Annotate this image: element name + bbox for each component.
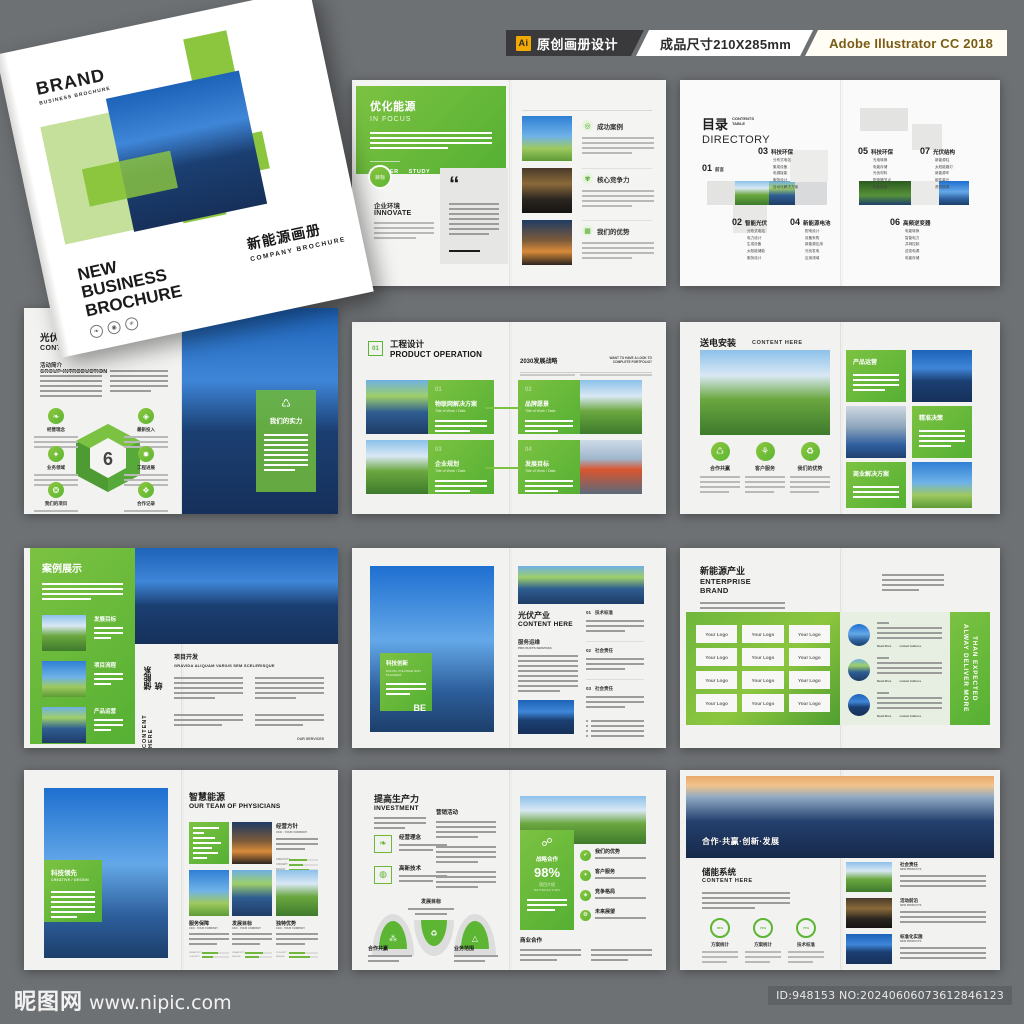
dir-bullet: 光伏材料 bbox=[873, 170, 920, 177]
inv-en-title: INVESTMENT bbox=[374, 805, 426, 812]
brochure-cover: BRAND BUSINESS BROCHURE NEW BUSINESS BRO… bbox=[0, 0, 374, 358]
dir-bullet: 电能存储 bbox=[905, 255, 952, 262]
page-gutter bbox=[509, 548, 512, 748]
pi-card-label: 精准决策 bbox=[919, 413, 965, 422]
text-line bbox=[174, 677, 243, 679]
text-line bbox=[436, 831, 496, 833]
text-line bbox=[527, 904, 567, 906]
ring-progress: 75% bbox=[796, 918, 816, 938]
dir-bullet: 逆变电源 bbox=[905, 248, 952, 255]
text-line bbox=[40, 385, 102, 387]
text-line bbox=[374, 822, 426, 824]
text-line bbox=[790, 486, 830, 488]
text-line bbox=[34, 479, 78, 481]
pvi-num: 01 bbox=[586, 610, 591, 615]
text-line bbox=[877, 632, 942, 634]
se-green-text-block bbox=[189, 822, 229, 864]
eb-row-note1: Read More bbox=[877, 679, 891, 683]
photo-battery-pack bbox=[846, 898, 892, 928]
watermark-url: www.nipic.com bbox=[89, 992, 232, 1014]
dir-bullet: 配电设计 bbox=[805, 228, 852, 235]
text-line bbox=[582, 137, 654, 139]
text-line bbox=[174, 697, 215, 699]
po-card-en: Title of Work / Date bbox=[525, 409, 573, 413]
text-line bbox=[264, 444, 308, 446]
photo-floating-pv bbox=[912, 350, 972, 402]
po-card-en: Title of Work / Date bbox=[435, 469, 487, 473]
text-line bbox=[193, 832, 204, 834]
photo-wind-mountain bbox=[912, 462, 972, 508]
text-line bbox=[94, 627, 123, 629]
photo-ev-car bbox=[366, 440, 428, 494]
case-cn-title: 案例展示 bbox=[42, 560, 123, 575]
dir-num: 03 bbox=[758, 146, 768, 156]
page-gutter bbox=[509, 80, 512, 286]
text-line bbox=[745, 486, 785, 488]
text-line bbox=[518, 670, 578, 672]
se-feature-en: CEO . YOUR COMPANY bbox=[276, 830, 318, 834]
tag-icon: ❂ bbox=[48, 482, 64, 498]
text-line bbox=[51, 891, 95, 893]
text-line bbox=[94, 683, 111, 685]
text-line bbox=[518, 675, 578, 677]
text-line bbox=[900, 875, 986, 877]
dir-bullet: 集成设备 bbox=[773, 164, 820, 171]
text-line bbox=[900, 952, 986, 954]
text-line bbox=[582, 142, 654, 144]
po-section-title: 2030发展战略 bbox=[520, 356, 557, 365]
ring-label: 方案统计 bbox=[702, 942, 738, 948]
meter-label: CONCEPT bbox=[189, 956, 200, 958]
page-gutter bbox=[181, 770, 184, 970]
text-line bbox=[40, 390, 102, 392]
dir-bullet: 资讯能源 bbox=[935, 184, 980, 191]
text-line bbox=[370, 132, 492, 134]
badge-original-design: Ai 原创画册设计 bbox=[506, 30, 644, 56]
hexagon-number: 6 bbox=[103, 449, 113, 469]
meter-label: DESIGN bbox=[232, 956, 243, 958]
pi-card-label: 产品运营 bbox=[853, 357, 899, 366]
eb-side-text2: THAN EXPECTED bbox=[971, 636, 978, 701]
rule bbox=[520, 374, 575, 376]
case-item-label: 发展目标 bbox=[94, 615, 123, 623]
text-line bbox=[189, 938, 229, 940]
text-line bbox=[408, 908, 454, 910]
cover-photo-panels bbox=[106, 71, 267, 232]
header-badges: Ai 原创画册设计 成品尺寸210X285mm Adobe Illustrato… bbox=[506, 30, 1007, 56]
badge-icon: ✔ bbox=[580, 850, 591, 861]
text-line bbox=[582, 205, 632, 207]
text-line bbox=[436, 876, 496, 878]
text-line bbox=[51, 911, 95, 913]
text-line bbox=[276, 943, 305, 945]
card-index: 02 bbox=[525, 387, 573, 393]
text-line bbox=[919, 430, 965, 432]
text-line bbox=[264, 449, 308, 451]
spread-product-operation: 01 工程设计 PRODUCT OPERATION 2030发展战略 WANT … bbox=[352, 322, 666, 514]
text-line bbox=[853, 379, 899, 381]
pvi-sub-cn: 服务运维 bbox=[518, 638, 578, 646]
dir-num: 06 bbox=[890, 217, 900, 227]
dir-num: 01 bbox=[702, 163, 712, 173]
se-feature-en: CEO . YOUR COMPANY bbox=[276, 927, 318, 930]
service-icon: ⚘ bbox=[756, 442, 775, 461]
text-line bbox=[449, 208, 499, 210]
chat-user-icon: ☍ bbox=[527, 838, 567, 849]
text-line bbox=[370, 137, 492, 139]
text-line bbox=[94, 724, 123, 726]
text-line bbox=[255, 697, 296, 699]
text-line bbox=[374, 817, 426, 819]
dir-bullet: 智能电力 bbox=[905, 235, 952, 242]
text-line bbox=[700, 481, 740, 483]
text-line bbox=[40, 395, 102, 397]
pv-right-label: 合作记录 bbox=[124, 501, 168, 507]
dir-bullet: 电能转换 bbox=[873, 184, 920, 191]
photo-tower-panels bbox=[232, 822, 272, 864]
divider bbox=[522, 110, 652, 111]
text-line bbox=[518, 680, 578, 682]
inv-stat-value: 98% bbox=[527, 865, 567, 880]
text-line bbox=[700, 486, 740, 488]
logo-cell: Your Logo bbox=[742, 671, 783, 689]
dir-num: 07 bbox=[920, 146, 930, 156]
dir-bullet: 光电转换 bbox=[873, 157, 920, 164]
pi-right-card: 产品运营 bbox=[846, 350, 906, 402]
po-section-note: WANT TO HAVE A LOOK TO COMPLETE PORTFOLI… bbox=[602, 356, 652, 365]
text-line bbox=[42, 583, 123, 585]
text-line bbox=[110, 390, 151, 392]
text-line bbox=[790, 491, 819, 493]
case-body-en: GRAVIDA ALIQUAM VARIUS SEM SCELERISQUE bbox=[174, 663, 324, 668]
po-card-en: Title of Work / Date bbox=[435, 409, 487, 413]
pv-sub-cn: 活动简介 bbox=[40, 361, 170, 369]
text-line bbox=[525, 485, 573, 487]
text-line bbox=[436, 881, 496, 883]
text-line bbox=[595, 877, 646, 879]
text-line bbox=[51, 916, 77, 918]
photo-panel-row bbox=[846, 862, 892, 892]
spread-pv-industry: 科技创新 DOLOR, PULVINAR NON PLACERAT BE 光伏产… bbox=[352, 548, 666, 748]
text-line bbox=[520, 959, 557, 961]
badge-software: Adobe Illustrator CC 2018 bbox=[805, 30, 1007, 56]
text-line bbox=[586, 668, 625, 670]
text-line bbox=[255, 692, 324, 694]
divider bbox=[582, 220, 652, 221]
text-line bbox=[582, 147, 654, 149]
text-line bbox=[255, 714, 324, 716]
text-line bbox=[520, 949, 581, 951]
text-line bbox=[900, 911, 986, 913]
text-line bbox=[586, 706, 625, 708]
storage-row-en: NEW PRODUCTS bbox=[900, 940, 986, 943]
text-line bbox=[582, 247, 654, 249]
photo-turbines-panels bbox=[700, 350, 830, 435]
text-line bbox=[702, 907, 755, 909]
po-card-en: Title of Work / Date bbox=[525, 469, 573, 473]
photo-wind-farm bbox=[522, 116, 572, 161]
se-feature-en: CEO . YOUR COMPANY bbox=[189, 927, 229, 930]
photo-wind-grass bbox=[276, 870, 318, 916]
photo-battery-rack bbox=[522, 168, 572, 213]
dir-bullet: 新能源车 bbox=[935, 170, 980, 177]
chart-icon: ▦ bbox=[582, 225, 593, 236]
leaf-icon: ❧ bbox=[48, 408, 64, 424]
text-line bbox=[877, 667, 942, 669]
text-line bbox=[449, 233, 489, 235]
dir-bullet: 并网控制 bbox=[905, 241, 952, 248]
rule bbox=[580, 374, 652, 376]
text-line bbox=[900, 885, 986, 887]
text-line bbox=[110, 385, 168, 387]
text-line bbox=[94, 637, 111, 639]
logo-cell: Your Logo bbox=[696, 625, 737, 643]
pvi-card-big: BE bbox=[386, 703, 426, 713]
text-line bbox=[40, 375, 102, 377]
photo-pv-closeup bbox=[518, 566, 644, 604]
text-line bbox=[193, 842, 221, 844]
pvi-card-cn: 科技创新 bbox=[386, 659, 426, 667]
text-line bbox=[582, 242, 654, 244]
directory-cn-title: 目录 bbox=[702, 114, 728, 133]
text-line bbox=[853, 486, 899, 488]
text-line bbox=[595, 917, 646, 919]
inv-cn-title: 提高生产力 bbox=[374, 792, 426, 805]
avatar bbox=[848, 624, 870, 646]
text-line bbox=[399, 880, 433, 882]
text-line bbox=[700, 476, 740, 478]
text-line bbox=[527, 909, 555, 911]
ring-progress: 70% bbox=[753, 918, 773, 938]
eb-row-note2: contact Address bbox=[899, 714, 921, 718]
se-card-cn: 科技领先 bbox=[51, 867, 95, 877]
photo-turbine-blade bbox=[189, 870, 229, 916]
text-line bbox=[94, 719, 123, 721]
text-line bbox=[174, 719, 243, 721]
text-line bbox=[582, 200, 654, 202]
text-line bbox=[882, 574, 944, 576]
text-line bbox=[386, 683, 426, 685]
logo-cell: Your Logo bbox=[789, 671, 830, 689]
meter-label: CREATIVITY bbox=[232, 952, 243, 954]
dir-num: 05 bbox=[858, 146, 868, 156]
text-line bbox=[94, 673, 123, 675]
text-line bbox=[174, 687, 243, 689]
se-en-title: OUR TEAM OF PHYSICIANS bbox=[189, 803, 280, 810]
recycle-icon: ♺ bbox=[264, 399, 308, 410]
connector bbox=[485, 467, 521, 469]
in-focus-sub-cn: 企业环境 bbox=[374, 200, 434, 210]
text-line bbox=[853, 374, 899, 376]
eb-side-banner: ALWAY DELIVER MORE THAN EXPECTED bbox=[950, 612, 990, 725]
pvi-card-en2: PLACERAT bbox=[386, 673, 426, 677]
text-line bbox=[174, 714, 243, 716]
eb-cn-title: 新能源产业 bbox=[700, 564, 785, 577]
eb-row-note2: contact Address bbox=[899, 679, 921, 683]
text-line bbox=[374, 222, 434, 224]
logo-cell: Your Logo bbox=[696, 694, 737, 712]
tag-study: STUDY bbox=[409, 169, 431, 175]
dir-bullet: 电力设计 bbox=[747, 235, 792, 242]
dir-bullet: 自动化解决方案 bbox=[773, 184, 820, 191]
ring-label: 方案统计 bbox=[745, 942, 781, 948]
text-line bbox=[900, 916, 986, 918]
text-line bbox=[40, 380, 102, 382]
text-line bbox=[582, 252, 654, 254]
text-line bbox=[232, 938, 272, 940]
eb-en-title2: BRAND bbox=[700, 586, 785, 595]
se-feature-en: CEO . YOUR COMPANY bbox=[232, 927, 272, 930]
text-line bbox=[591, 949, 652, 951]
dir-bullet: 分布式电站 bbox=[773, 157, 820, 164]
logo-cell: Your Logo bbox=[789, 625, 830, 643]
text-line bbox=[586, 625, 644, 627]
text-line bbox=[900, 957, 986, 959]
text-line bbox=[40, 370, 102, 372]
inv-right-label: 竞争格局 bbox=[595, 888, 646, 895]
text-line bbox=[436, 821, 496, 823]
text-line bbox=[853, 384, 899, 386]
strength-panel-title: 我们的实力 bbox=[264, 415, 308, 425]
text-line bbox=[174, 682, 243, 684]
photo-charger-case bbox=[42, 707, 86, 743]
text-line bbox=[34, 441, 78, 443]
po-en-title: PRODUCT OPERATION bbox=[390, 350, 482, 359]
case-item-label: 产品运营 bbox=[94, 707, 123, 715]
globe-icon: ◉ bbox=[106, 320, 121, 335]
text-line bbox=[877, 622, 889, 624]
pi-icon-label: 客户服务 bbox=[745, 465, 785, 472]
text-line bbox=[877, 662, 942, 664]
pvi-en-title: CONTENT HERE bbox=[518, 621, 578, 628]
spread-in-focus: 优化能源 IN FOCUS WORKER STUDY CASE 目标 企业环境 … bbox=[352, 80, 666, 286]
bulb-icon: ◍ bbox=[374, 866, 392, 884]
section-number-badge: 01 bbox=[368, 341, 383, 356]
text-line bbox=[882, 579, 944, 581]
connector bbox=[485, 407, 521, 409]
dir-bullet: 生成设备 bbox=[747, 241, 792, 248]
text-line bbox=[193, 837, 215, 839]
text-line bbox=[264, 459, 308, 461]
text-line bbox=[900, 880, 986, 882]
text-line bbox=[702, 956, 738, 958]
illustrator-ai-icon: Ai bbox=[516, 36, 531, 51]
dir-bullet: 新能源应用 bbox=[805, 241, 852, 248]
text-line bbox=[255, 687, 324, 689]
text-line bbox=[276, 843, 318, 845]
text-line bbox=[525, 490, 558, 492]
dir-bullet: 太阳能储能 bbox=[747, 248, 792, 255]
text-line bbox=[745, 491, 774, 493]
text-line bbox=[919, 440, 965, 442]
text-line bbox=[124, 479, 168, 481]
meter-label: CONCEPT bbox=[276, 952, 287, 954]
leaf-icon: ❧ bbox=[374, 835, 392, 853]
dir-bullet: 电能转换 bbox=[905, 228, 952, 235]
card-index: 04 bbox=[525, 447, 573, 453]
badge-icon: ❂ bbox=[580, 910, 591, 921]
text-line bbox=[518, 690, 560, 692]
se-card-en: CREATIVE / DESIGN bbox=[51, 878, 95, 882]
logo-cell: Your Logo bbox=[696, 671, 737, 689]
text-line bbox=[94, 678, 123, 680]
text-line bbox=[877, 657, 889, 659]
storage-row-en: NEW PRODUCTS bbox=[900, 904, 986, 907]
text-line bbox=[454, 955, 498, 957]
arc-shape: ♻ bbox=[414, 920, 454, 956]
photo-solar-array bbox=[135, 548, 338, 644]
dir-bullet: 太阳能路灯 bbox=[935, 164, 980, 171]
text-line bbox=[582, 195, 654, 197]
po-cn-title: 工程设计 bbox=[390, 338, 482, 350]
spread-enterprise-brand: 新能源产业 ENTERPRISE BRAND Your Logo Your Lo… bbox=[680, 548, 1000, 748]
text-line bbox=[525, 480, 573, 482]
text-line bbox=[586, 701, 644, 703]
text-line bbox=[436, 836, 478, 838]
text-line bbox=[110, 370, 168, 372]
text-line bbox=[264, 469, 295, 471]
logo-cell: Your Logo bbox=[789, 694, 830, 712]
in-focus-badge-circle: 目标 bbox=[368, 165, 392, 189]
se-feature-cn: 经营方针 bbox=[276, 822, 318, 830]
eb-contact-list: Read More contact Address Read More cont… bbox=[840, 612, 950, 725]
text-line bbox=[449, 223, 499, 225]
image-id-label: ID:948153 NO:20240606073612846123 bbox=[768, 986, 1012, 1005]
text-line bbox=[586, 663, 644, 665]
text-line bbox=[193, 857, 207, 859]
dir-bullet: 电源接能 bbox=[773, 170, 820, 177]
photo-handshake bbox=[846, 406, 906, 458]
photo-power-tower bbox=[522, 220, 572, 265]
text-line bbox=[877, 692, 889, 694]
text-line bbox=[51, 906, 95, 908]
ring-label: 技术标准 bbox=[788, 942, 824, 948]
text-line bbox=[853, 389, 885, 391]
pv-right-label: 最新投入 bbox=[124, 427, 168, 433]
text-line bbox=[853, 496, 899, 498]
text-line bbox=[110, 380, 168, 382]
text-line bbox=[790, 476, 830, 478]
text-line bbox=[34, 510, 78, 512]
recycle-icon: ♻ bbox=[421, 920, 447, 946]
logo-cell: Your Logo bbox=[742, 648, 783, 666]
inv-arc-center-title: 发展目标 bbox=[408, 898, 454, 905]
text-line bbox=[595, 857, 646, 859]
in-focus-green-block: 优化能源 IN FOCUS WORKER STUDY CASE bbox=[356, 86, 506, 174]
meter-label: CREATIVITY bbox=[276, 858, 287, 861]
divider bbox=[582, 168, 652, 169]
in-focus-sub-en: INNOVATE bbox=[374, 210, 434, 217]
strength-panel: ♺ 我们的实力 bbox=[256, 390, 316, 492]
text-line bbox=[702, 902, 790, 904]
badge-original-design-label: 原创画册设计 bbox=[537, 34, 618, 53]
text-line bbox=[370, 147, 448, 149]
dir-title: 高频逆变器 bbox=[903, 219, 931, 227]
text-line bbox=[42, 593, 123, 595]
dir-title: 科技环保 bbox=[871, 148, 893, 156]
text-line bbox=[790, 481, 830, 483]
pi-icon-label: 合作共赢 bbox=[700, 465, 740, 472]
text-line bbox=[374, 232, 434, 234]
page-gutter bbox=[509, 770, 512, 970]
text-line bbox=[34, 474, 78, 476]
dir-bullet: 服务设计 bbox=[773, 177, 820, 184]
text-line bbox=[42, 588, 123, 590]
avatar bbox=[848, 694, 870, 716]
pvi-label: 社会责任 bbox=[595, 686, 613, 692]
text-line bbox=[193, 827, 219, 829]
pi-right-card: 商业解决方案 bbox=[846, 462, 906, 508]
